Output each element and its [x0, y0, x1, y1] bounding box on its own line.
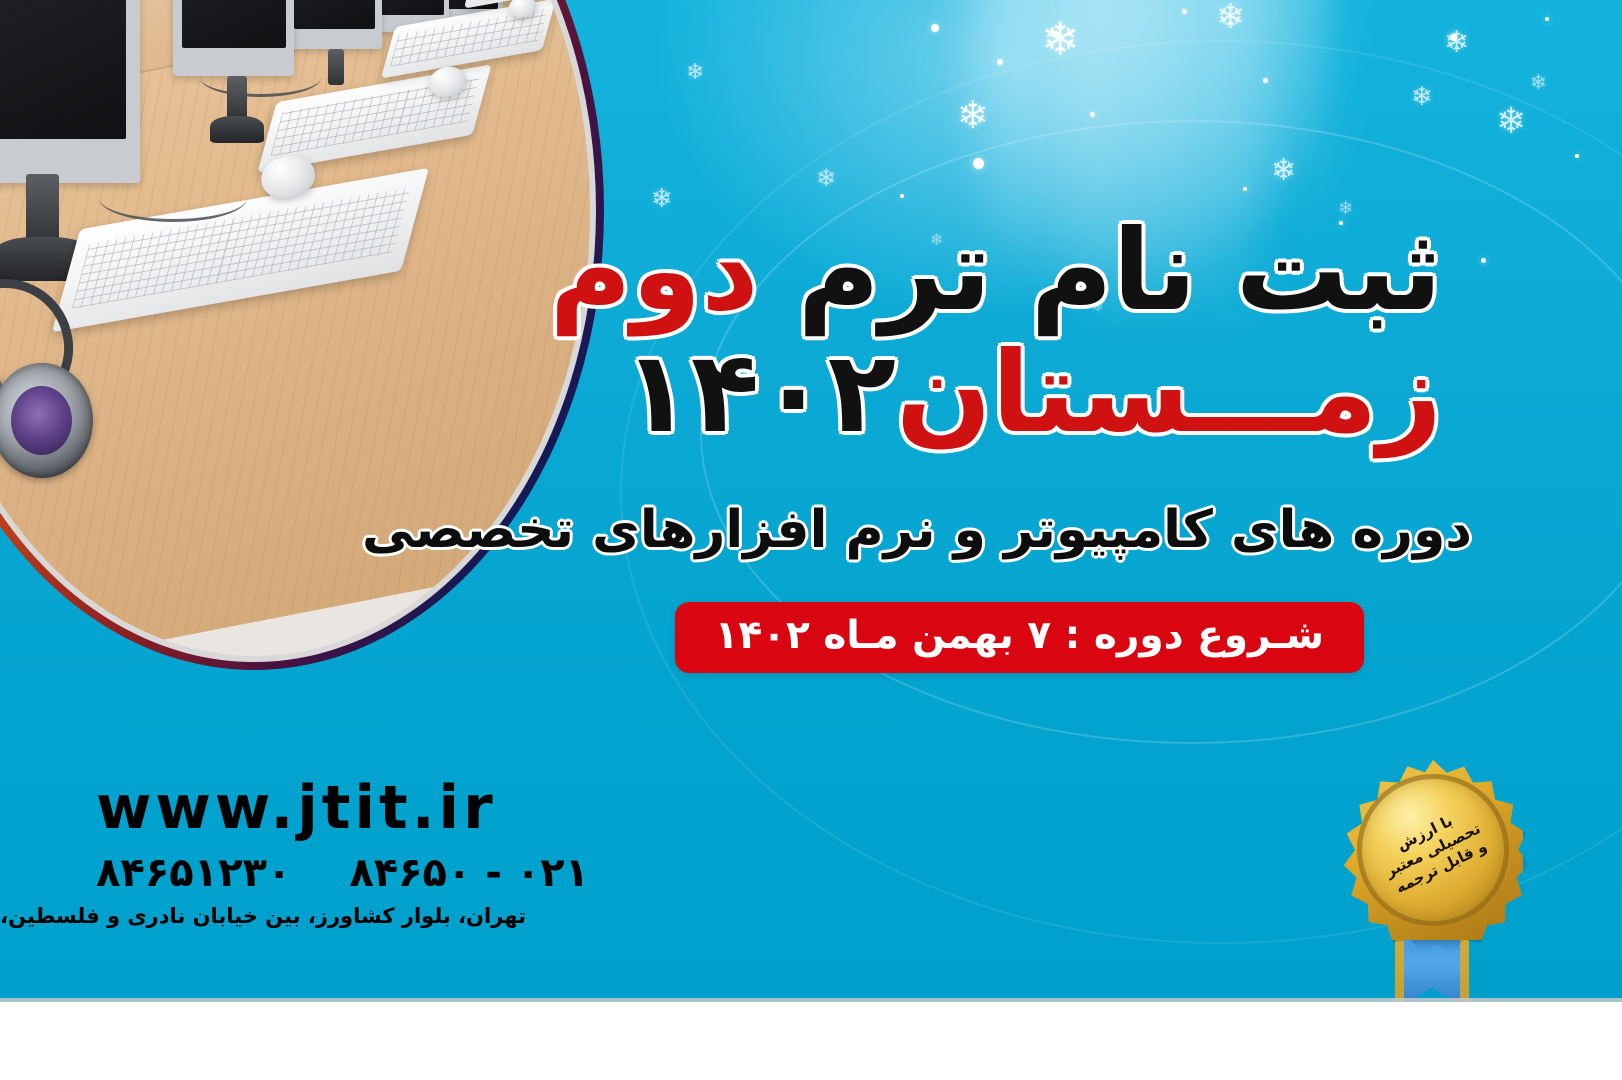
- headline-line-2-highlight: زمـــستان: [896, 328, 1442, 458]
- snowflake-icon: ❄: [957, 96, 989, 134]
- snowflake-icon: ❄: [1041, 16, 1080, 62]
- snow-dot: [1481, 258, 1486, 263]
- accreditation-seal: با ارزش تحصیلی معتبر و قابل ترجمه: [1343, 760, 1523, 1002]
- snow-dot: [1243, 187, 1247, 191]
- seal-face: با ارزش تحصیلی معتبر و قابل ترجمه: [1357, 774, 1509, 926]
- snowflake-icon: ❄: [1444, 28, 1469, 58]
- computer-lab-photo: [0, 0, 604, 670]
- snowflake-icon: ❄: [686, 62, 704, 84]
- snow-dot: [1575, 154, 1579, 158]
- snow-dot: [1450, 34, 1457, 41]
- snowflake-icon: ❄: [1271, 156, 1296, 186]
- monitor-base: [210, 116, 264, 143]
- headline-line-1-text: ثبت نام ترم: [759, 206, 1442, 336]
- phone-primary[interactable]: ۰۲۱ - ۸۴۶۵۰: [349, 850, 589, 896]
- cable: [99, 174, 247, 222]
- headphone-earcup: [0, 363, 93, 479]
- phone-secondary[interactable]: ۸۴۶۵۱۲۳۰: [96, 850, 291, 896]
- contact-block: www.jtit.ir ۰۲۱ - ۸۴۶۵۰ ۸۴۶۵۱۲۳۰ تهران، …: [96, 778, 589, 928]
- snowflake-icon: ❄: [1496, 104, 1526, 140]
- monitor-stand: [328, 49, 344, 85]
- monitor-stand: [26, 174, 60, 245]
- cable: [200, 58, 321, 97]
- snow-dot: [997, 59, 1003, 65]
- snow-dot: [900, 194, 904, 198]
- snowflake-icon: ❄: [1216, 0, 1245, 34]
- snow-dot: [973, 158, 984, 169]
- headline-line-1-highlight: دوم: [549, 206, 758, 336]
- headphones: [0, 308, 93, 469]
- subtitle: دوره های کامپیوتر و نرم افزارهای تخصصی: [652, 500, 1472, 560]
- snow-dot: [1090, 112, 1095, 117]
- snow-dot: [1263, 78, 1268, 83]
- snowflake-icon: ❄: [1530, 72, 1547, 92]
- snowflake-icon: ❄: [1411, 84, 1433, 110]
- snow-dot: [931, 24, 939, 32]
- light-ray: [1240, 0, 1330, 240]
- monitor: [288, 0, 382, 49]
- headline-block: ثبت نام ترم دوم زمـــستان۱۴۰۲: [682, 214, 1442, 450]
- address-line: تهران، بلوار کشاورز، بین خیابان نادری و …: [96, 904, 526, 928]
- phone-row: ۰۲۱ - ۸۴۶۵۰ ۸۴۶۵۱۲۳۰: [96, 850, 589, 896]
- banner-background: ❄❄❄❄❄❄❄❄❄❄❄❄❄❄: [0, 0, 1622, 1002]
- seal-text: با ارزش تحصیلی معتبر و قابل ترجمه: [1362, 796, 1504, 904]
- monitor: [0, 0, 140, 183]
- snow-dot: [1182, 9, 1187, 14]
- course-start-badge: شـروع دوره : ۷ بهمن مـاه ۱۴۰۲: [675, 602, 1364, 673]
- snow-dot: [1545, 17, 1549, 21]
- poster-root: ❄❄❄❄❄❄❄❄❄❄❄❄❄❄: [0, 0, 1622, 1080]
- website-url[interactable]: www.jtit.ir: [96, 778, 589, 838]
- snow-dot: [1052, 31, 1059, 38]
- headline-line-1: ثبت نام ترم دوم: [682, 214, 1442, 328]
- headline-line-2-text: ۱۴۰۲: [623, 328, 896, 458]
- headline-line-2: زمـــستان۱۴۰۲: [682, 336, 1442, 450]
- snowflake-icon: ❄: [816, 166, 836, 190]
- banner-bottom-rule: [0, 998, 1622, 1002]
